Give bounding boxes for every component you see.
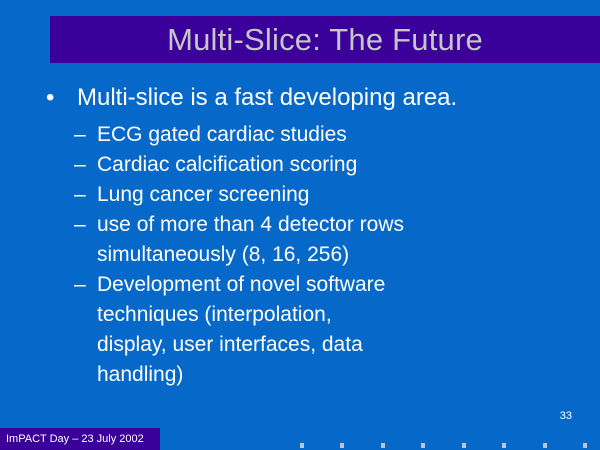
list-item-label: use of more than 4 detector rows simulta… — [97, 210, 487, 270]
list-item-label: ECG gated cardiac studies — [97, 120, 497, 150]
bullet-dash-icon: – — [74, 180, 86, 210]
slide-title-bar: Multi-Slice: The Future — [50, 16, 600, 63]
list-item: – Cardiac calcification scoring — [0, 150, 600, 180]
page-title: Multi-Slice: The Future — [50, 19, 600, 60]
decorative-dot-icon — [543, 443, 547, 448]
bullet-dash-icon: – — [74, 270, 86, 300]
list-item: – use of more than 4 detector rows simul… — [0, 210, 600, 270]
bullet-dash-icon: – — [74, 150, 86, 180]
list-item: – Development of novel software techniqu… — [0, 270, 600, 390]
list-item: • Multi-slice is a fast developing area. — [0, 82, 600, 114]
slide-content: • Multi-slice is a fast developing area.… — [0, 82, 600, 390]
list-item-label: Cardiac calcification scoring — [97, 150, 497, 180]
decorative-dot-icon — [462, 443, 466, 448]
decorative-dot-strip — [0, 441, 600, 450]
list-item: – Lung cancer screening — [0, 180, 600, 210]
list-item-label: Multi-slice is a fast developing area. — [77, 84, 457, 111]
bullet-dash-icon: – — [74, 210, 86, 240]
bullet-dash-icon: – — [74, 120, 86, 150]
decorative-dot-icon — [340, 443, 344, 448]
decorative-dot-icon — [583, 443, 587, 448]
decorative-dot-icon — [502, 443, 506, 448]
decorative-dot-icon — [381, 443, 385, 448]
list-item-label: Development of novel software techniques… — [97, 270, 397, 390]
slide-canvas: Multi-Slice: The Future • Multi-slice is… — [0, 0, 600, 450]
bullet-dot-icon: • — [46, 82, 54, 114]
page-number: 33 — [560, 409, 572, 423]
decorative-dot-icon — [421, 443, 425, 448]
list-item-label: Lung cancer screening — [97, 180, 497, 210]
decorative-dot-icon — [300, 443, 304, 448]
list-item: – ECG gated cardiac studies — [0, 120, 600, 150]
